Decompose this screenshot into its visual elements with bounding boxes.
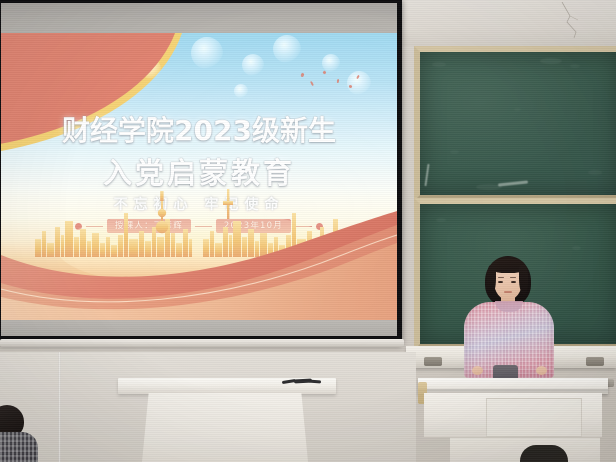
city-building [223,227,228,257]
wall-seam [58,352,61,462]
classroom-scene: 财经学院2023级新生 入党启蒙教育 不忘初心 牢记使命 授课人：丁彦辉 202… [0,0,616,462]
speaker-hand-right [536,366,547,375]
chalk-smudge [540,58,562,64]
city-building [129,239,138,257]
city-building [183,229,188,257]
city-building [55,227,60,257]
city-building [203,239,209,257]
city-building [229,235,232,257]
left-podium-body [142,393,308,462]
city-building [248,229,254,257]
slide-title-line-1: 财经学院2023级新生 [1,109,397,149]
city-building [210,231,214,257]
city-building [152,227,156,257]
chalk-smudge [432,62,446,67]
city-building [124,213,128,257]
chalk-mark [424,164,429,186]
city-building [42,231,46,257]
chalk-smudge [570,64,580,68]
chalk-mark [498,180,528,186]
chalk-smudge [572,246,581,250]
city-building [215,243,222,257]
chalk-smudge [450,150,459,154]
speaker-hair-right [519,265,528,295]
city-building [61,235,64,257]
city-building [139,231,144,257]
projector-screen: 财经学院2023级新生 入党启蒙教育 不忘初心 牢记使命 授课人：丁彦辉 202… [0,0,402,344]
screen-letterbox-top [1,3,397,33]
ledge-bracket-left [424,357,442,366]
city-building [242,237,247,257]
city-building [189,239,192,257]
front-desk-dark-object [520,445,568,462]
slide-skyline-svg [1,171,397,321]
screen-letterbox-bottom [1,320,397,336]
city-building [145,241,151,257]
city-building [87,241,91,257]
ledge-bracket-right [586,357,604,366]
city-building [106,237,110,257]
chalk-smudge [436,218,446,222]
city-building [157,237,164,257]
city-building [255,241,259,257]
seated-person-front-left-body [0,432,38,462]
city-building [233,221,241,257]
chalk-smudge [514,108,521,111]
city-building [92,233,99,257]
city-building [80,229,86,257]
blackboard-upper [414,46,616,201]
markers-on-ledge [282,378,324,385]
projector-screen-surface: 财经学院2023级新生 入党启蒙教育 不忘初心 牢记使命 授课人：丁彦辉 202… [1,3,397,336]
lectern-front-panel [486,398,582,437]
chalk-smudge [588,170,602,175]
city-building [35,239,41,257]
city-building [74,237,79,257]
city-building [260,233,267,257]
city-building [111,245,117,257]
marker [308,380,321,384]
city-building [100,243,105,257]
presentation-slide: 财经学院2023级新生 入党启蒙教育 不忘初心 牢记使命 授课人：丁彦辉 202… [1,33,397,321]
city-building [47,243,54,257]
projector-screen-roller [0,339,404,347]
city-building [65,221,73,257]
city-building [118,235,123,257]
speaker-mouth [504,291,512,293]
city-building [176,243,182,257]
city-building [171,233,175,257]
slide-bottom-artwork [1,171,397,321]
wall-crack [560,2,594,40]
speaker-hand-left [472,366,483,375]
